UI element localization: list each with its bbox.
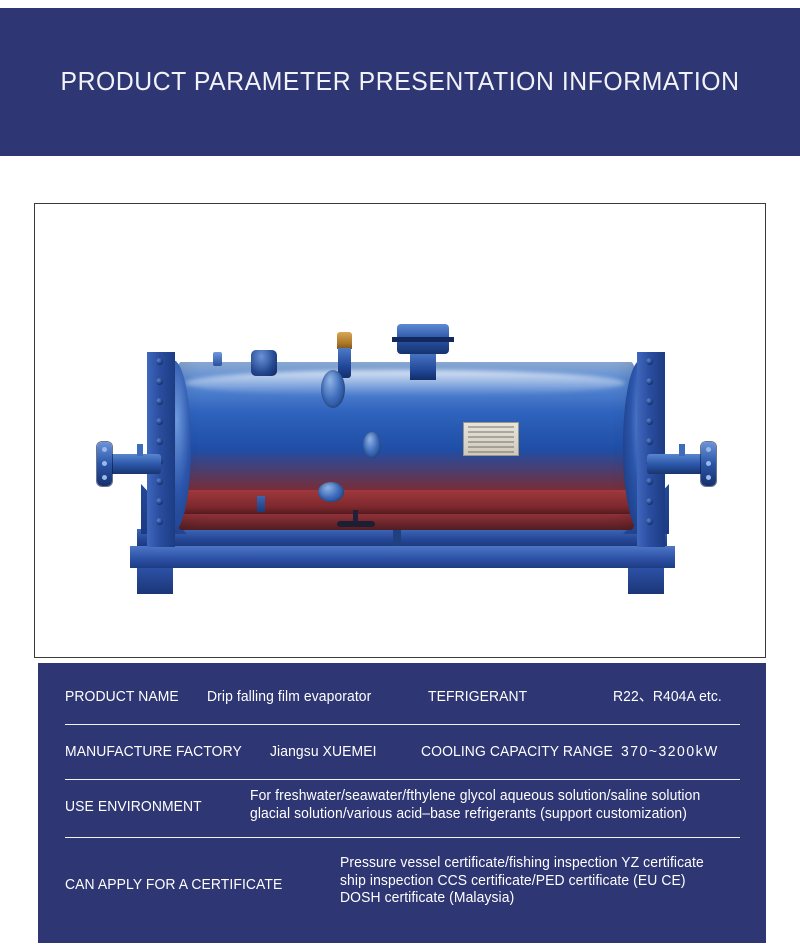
param-value-refrigerant: R22、R404A etc.	[613, 689, 722, 707]
product-image	[35, 204, 765, 657]
vessel-shadow-band	[175, 490, 637, 514]
brass-relief-valve	[337, 332, 352, 378]
param-label-cooling-capacity-range: COOLING CAPACITY RANGE	[421, 744, 613, 762]
shell-nozzle-upper	[321, 370, 345, 408]
top-vent-stub	[213, 352, 222, 366]
param-value-use-environment: For freshwater/seawater/fthylene glycol …	[250, 788, 700, 823]
param-value-manufacture-factory: Jiangsu XUEMEI	[270, 744, 377, 762]
support-bolts-right	[637, 352, 665, 547]
row-divider-3	[65, 837, 740, 838]
drain-valve	[337, 510, 375, 532]
param-label-certificate: CAN APPLY FOR A CERTIFICATE	[65, 877, 282, 895]
nozzle-vent-stub-left	[137, 444, 143, 456]
param-label-use-environment: USE ENVIRONMENT	[65, 799, 202, 817]
param-label-product-name: PRODUCT NAME	[65, 689, 179, 707]
param-label-manufacture-factory: MANUFACTURE FACTORY	[65, 744, 242, 762]
outlet-nozzle-right	[647, 454, 705, 474]
skid-foot-left	[137, 568, 173, 594]
top-flanged-port	[397, 324, 449, 378]
evaporator-illustration	[75, 314, 735, 644]
support-bolts-left	[147, 352, 175, 547]
param-value-cooling-capacity-range: 370~3200kW	[621, 744, 719, 762]
pipe-flange-left	[97, 442, 112, 486]
bottom-drain-stub	[257, 496, 265, 512]
product-parameter-page: PRODUCT PARAMETER PRESENTATION INFORMATI…	[0, 0, 800, 949]
param-label-refrigerant: TEFRIGERANT	[428, 689, 527, 707]
skid-top-beam	[137, 529, 667, 546]
vessel-nameplate	[463, 422, 519, 456]
row-divider-1	[65, 724, 740, 725]
page-title: PRODUCT PARAMETER PRESENTATION INFORMATI…	[60, 68, 739, 97]
top-inspection-cap	[251, 350, 277, 376]
row-divider-2	[65, 779, 740, 780]
nozzle-vent-stub-right	[679, 444, 685, 456]
param-value-product-name: Drip falling film evaporator	[207, 689, 371, 707]
parameter-table: PRODUCT NAME Drip falling film evaporato…	[38, 663, 766, 943]
skid-bottom-beam	[130, 546, 675, 568]
shell-sight-glass	[363, 432, 381, 458]
page-header-banner: PRODUCT PARAMETER PRESENTATION INFORMATI…	[0, 8, 800, 156]
product-image-frame	[34, 203, 766, 658]
pipe-flange-right	[701, 442, 716, 486]
shell-nozzle-lower	[318, 482, 344, 502]
skid-foot-right	[628, 568, 664, 594]
param-value-certificate: Pressure vessel certificate/fishing insp…	[340, 855, 704, 908]
